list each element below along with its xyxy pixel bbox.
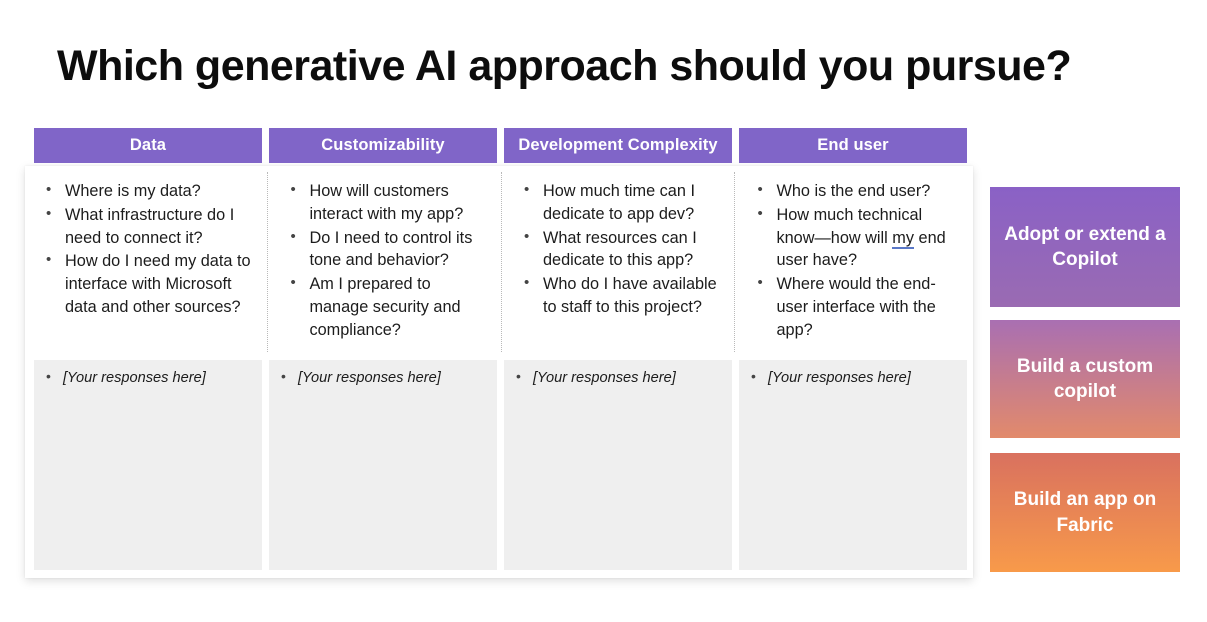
column-header-end-user: End user [739,128,967,163]
question-list-customizability: How will customers interact with my app?… [282,180,487,342]
question-cell-development-complexity: How much time can I dedicate to app dev?… [501,172,735,352]
column-header-customizability: Customizability [269,128,497,163]
question-item: Where is my data? [38,180,253,203]
response-list: [Your responses here] [743,369,957,388]
column-header-development-complexity: Development Complexity [504,128,732,163]
response-cell-data[interactable]: [Your responses here] [34,360,262,570]
question-item: How do I need my data to interface with … [38,250,253,318]
question-list-data: Where is my data? What infrastructure do… [38,180,253,319]
question-list-end-user: Who is the end user? How much technical … [749,180,954,342]
question-item: What resources can I dedicate to this ap… [516,227,721,273]
grammar-underline-word[interactable]: my [892,229,914,249]
question-list-development-complexity: How much time can I dedicate to app dev?… [516,180,721,319]
question-cell-customizability: How will customers interact with my app?… [267,172,501,352]
question-row: Where is my data? What infrastructure do… [34,172,968,352]
response-list: [Your responses here] [508,369,722,388]
question-item: Do I need to control its tone and behavi… [282,227,487,273]
question-item: How much time can I dedicate to app dev? [516,180,721,226]
question-cell-end-user: Who is the end user? How much technical … [734,172,968,352]
question-item: Am I prepared to manage security and com… [282,273,487,341]
slide-canvas: Which generative AI approach should you … [0,0,1207,622]
response-placeholder[interactable]: [Your responses here] [38,369,252,388]
page-title: Which generative AI approach should you … [57,42,1147,90]
option-card-adopt-or-extend-a-copilot[interactable]: Adopt or extend a Copilot [990,187,1180,307]
response-list: [Your responses here] [38,369,252,388]
table-header-row: Data Customizability Development Complex… [34,128,968,163]
response-cell-development-complexity[interactable]: [Your responses here] [504,360,732,570]
question-item: How will customers interact with my app? [282,180,487,226]
option-card-build-a-custom-copilot[interactable]: Build a custom copilot [990,320,1180,438]
question-item: Who is the end user? [749,180,954,203]
response-placeholder[interactable]: [Your responses here] [743,369,957,388]
response-placeholder[interactable]: [Your responses here] [508,369,722,388]
option-card-build-an-app-on-fabric[interactable]: Build an app on Fabric [990,453,1180,572]
response-cell-customizability[interactable]: [Your responses here] [269,360,497,570]
question-item: Who do I have available to staff to this… [516,273,721,319]
question-item-with-grammar-mark: How much technical know—how will my end … [749,204,954,272]
question-item: Where would the end-user interface with … [749,273,954,341]
response-placeholder[interactable]: [Your responses here] [273,369,487,388]
question-item: What infrastructure do I need to connect… [38,204,253,250]
question-cell-data: Where is my data? What infrastructure do… [34,172,267,352]
column-header-data: Data [34,128,262,163]
response-row: [Your responses here] [Your responses he… [34,360,968,570]
response-cell-end-user[interactable]: [Your responses here] [739,360,967,570]
response-list: [Your responses here] [273,369,487,388]
